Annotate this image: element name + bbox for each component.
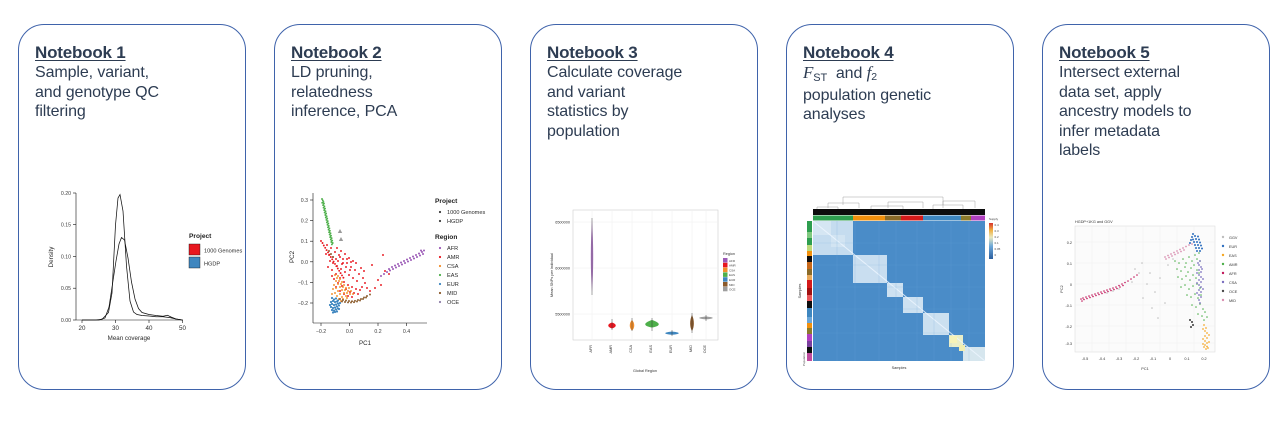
x-tick-csa: CSA: [629, 345, 633, 353]
pc2-tick-0.0: 0.0: [301, 260, 308, 266]
dendrogram: [817, 197, 975, 210]
column-annotation-bar: [813, 216, 985, 221]
x-tick-eas: EAS: [649, 345, 653, 353]
pc1-tick-0.2: 0.2: [374, 329, 381, 335]
legend-label-amr: AMR: [447, 255, 459, 261]
notebook-5-desc-line-4: infer metadata: [1059, 122, 1255, 142]
pca5-ytick-2: 0: [1070, 283, 1072, 287]
notebook-1-description: Sample, variant, and genotype QC filteri…: [35, 63, 231, 122]
legend-label-csa: CSA: [729, 268, 735, 272]
pca5-xtick-3: -0.2: [1133, 357, 1140, 361]
x-axis-label: Mean coverage: [108, 335, 151, 342]
column-dendrogram-dense: [813, 209, 985, 215]
legend-title-region: Region: [723, 252, 735, 256]
notebook-1-desc-line-1: Sample, variant,: [35, 63, 231, 83]
legend-label-afr: AFR: [447, 246, 458, 252]
svg-text:0: 0: [995, 253, 997, 257]
pca-y-axis-label: PC2: [289, 250, 296, 263]
x-tick-oce: OCE: [703, 345, 707, 354]
legend-label-hgdp: HGDP: [204, 262, 220, 268]
pca5-xtick-6: 0.1: [1184, 357, 1189, 361]
notebook-2-description: LD pruning, relatedness inference, PCA: [291, 63, 487, 122]
violin-x-axis-label: Global Region: [633, 369, 657, 373]
x-tick-mid: MID: [689, 345, 693, 352]
pca5-y-axis-label: PC2: [1060, 285, 1064, 292]
y-tick-4: 0.20: [61, 191, 71, 197]
notebook-card-5[interactable]: Notebook 5 Intersect external data set, …: [1042, 24, 1270, 390]
pca5-legend: GGV EUR EAS AMR AFR CSA OCE MID: [1222, 236, 1238, 303]
heatmap-colorbar-ticks: 0.40.3 0.20.1 0.050: [995, 223, 1001, 257]
pc2-tick-n0.2: −0.2: [298, 301, 308, 307]
notebook-1-desc-line-3: filtering: [35, 102, 231, 122]
pc2-tick-0.3: 0.3: [301, 198, 308, 204]
x-tick-40: 40: [146, 325, 153, 332]
notebook-5-desc-line-5: labels: [1059, 141, 1255, 161]
y-tick-0: 0.00: [61, 318, 71, 324]
x-tick-eur: EUR: [669, 345, 673, 353]
pc1-tick-0.4: 0.4: [403, 329, 410, 335]
legend-label-1000-genomes: 1000 Genomes: [204, 249, 242, 255]
y-tick-6000000: 6000000: [555, 267, 570, 271]
notebook-2-desc-line-3: inference, PCA: [291, 102, 487, 122]
legend-dot-mid: [439, 292, 441, 294]
legend-label-oce: OCE: [447, 300, 459, 306]
legend-title-region: Region: [435, 234, 457, 241]
legend-label-mid: MID: [1229, 299, 1236, 303]
pc2-tick-0.1: 0.1: [301, 239, 308, 245]
heatmap-colorbar: [989, 223, 993, 259]
notebook-5-desc-line-1: Intersect external: [1059, 63, 1255, 83]
notebook-5-title: Notebook 5: [1059, 43, 1255, 62]
pc1-tick-n0.2: −0.2: [316, 329, 326, 335]
notebook-workflow-board: Notebook 1 Sample, variant, and genotype…: [0, 0, 1280, 427]
notebook-4-desc-line-1: population genetic: [803, 86, 999, 106]
notebook-card-4[interactable]: Notebook 4 FST and f2 population genetic…: [786, 24, 1014, 390]
legend-label-ggv: GGV: [1229, 236, 1238, 240]
legend-label-csa: CSA: [1229, 281, 1237, 285]
notebook-4-fst-heatmap: 0.40.3 0.20.1 0.050 Supply Samples Sampl…: [793, 183, 1009, 383]
legend-label-afr: AFR: [729, 259, 736, 263]
y-tick-1: 0.05: [61, 286, 71, 292]
pc1-tick-0.0: 0.0: [346, 329, 353, 335]
pca5-xtick-1: -0.4: [1099, 357, 1106, 361]
pca5-ytick-4: -0.2: [1065, 325, 1072, 329]
legend-label-eas: EAS: [1229, 254, 1237, 258]
heatmap-colorbar-title: Supply: [989, 217, 999, 221]
legend-label-amr: AMR: [729, 264, 737, 268]
notebook-4-desc-line-2: analyses: [803, 105, 999, 125]
legend-label-mid: MID: [729, 283, 735, 287]
heatmap-hotspot-2: [959, 345, 965, 351]
svg-text:0.1: 0.1: [995, 241, 1000, 245]
heatmap-y-axis-label: Samples: [798, 284, 802, 299]
notebook-3-title: Notebook 3: [547, 43, 743, 62]
heatmap-x-axis-label: Samples: [892, 366, 907, 370]
pca-points: [320, 198, 425, 314]
y-tick-6500000: 6500000: [555, 221, 570, 225]
notebook-2-pca-chart: 0.3 0.2 0.1 0.0 −0.1 −0.2 −0.2 0.0 0.2 0…: [277, 175, 501, 370]
legend-label-eas: EAS: [447, 273, 458, 279]
legend-label-hgdp: HGDP: [447, 219, 463, 225]
pca5-xtick-4: -0.1: [1150, 357, 1157, 361]
legend-dot-csa: [439, 265, 441, 267]
heatmap-hotspot-1: [950, 336, 957, 343]
legend-label-eas: EAS: [729, 273, 735, 277]
legend-title-project: Project: [189, 233, 212, 240]
legend-dot-afr: [439, 247, 441, 249]
notebook-4-description: FST and f2 population genetic analyses: [803, 63, 999, 125]
legend-label-afr: AFR: [1229, 272, 1237, 276]
notebook-1-desc-line-2: and genotype QC: [35, 83, 231, 103]
pca5-ytick-0: 0.2: [1067, 241, 1072, 245]
notebook-card-2[interactable]: Notebook 2 LD pruning, relatedness infer…: [274, 24, 502, 390]
notebook-3-desc-line-2: and variant: [547, 83, 743, 103]
notebook-4-title: Notebook 4: [803, 43, 999, 62]
legend-dot-eur: [439, 283, 441, 285]
notebook-3-description: Calculate coverage and variant statistic…: [547, 63, 743, 141]
pc2-tick-0.2: 0.2: [301, 219, 308, 225]
legend-label-eur: EUR: [729, 278, 736, 282]
violin-y-axis-label: Mean SNPs per Individual: [550, 253, 554, 297]
pca5-xtick-5: 0: [1169, 357, 1171, 361]
y-tick-2: 0.10: [61, 255, 71, 261]
notebook-2-title: Notebook 2: [291, 43, 487, 62]
svg-text:0.3: 0.3: [995, 229, 1000, 233]
pca5-title: HGDP+1KG and GGV: [1075, 220, 1113, 224]
legend-dot-hgdp: [439, 220, 441, 222]
x-tick-afr: AFR: [589, 345, 593, 353]
svg-text:0.4: 0.4: [995, 223, 1000, 227]
notebook-5-desc-line-2: data set, apply: [1059, 83, 1255, 103]
heatmap-row-annotation-label: Population: [802, 352, 806, 367]
notebook-3-desc-line-3: statistics by: [547, 102, 743, 122]
pca5-xtick-2: -0.3: [1116, 357, 1123, 361]
pca5-ytick-1: 0.1: [1067, 262, 1072, 266]
x-tick-30: 30: [112, 325, 119, 332]
legend-label-mid: MID: [447, 291, 457, 297]
notebook-2-desc-line-2: relatedness: [291, 83, 487, 103]
legend-dot-1000-genomes: [439, 211, 441, 213]
y-axis-label: Density: [48, 246, 55, 268]
pca5-ytick-5: -0.3: [1065, 342, 1072, 346]
x-tick-20: 20: [79, 325, 86, 332]
notebook-3-desc-line-4: population: [547, 122, 743, 142]
pca-x-axis-label: PC1: [359, 340, 372, 347]
notebook-4-desc-formula: FST and f2: [803, 63, 999, 86]
notebook-card-1[interactable]: Notebook 1 Sample, variant, and genotype…: [18, 24, 246, 390]
notebook-1-density-chart: 0.00 0.05 0.10 0.15 0.20 20 30 40 50 Mea…: [23, 165, 245, 355]
legend-swatch-hgdp: [189, 257, 200, 268]
pca5-xtick-7: 0.2: [1201, 357, 1206, 361]
legend-label-eur: EUR: [447, 282, 459, 288]
legend-label-amr: AMR: [1229, 263, 1238, 267]
legend-dot-eas: [439, 274, 441, 276]
pca5-xtick-0: -0.5: [1082, 357, 1089, 361]
pca5-x-axis-label: PC1: [1141, 367, 1148, 371]
notebook-3-desc-line-1: Calculate coverage: [547, 63, 743, 83]
x-tick-50: 50: [179, 325, 186, 332]
notebook-3-violin-chart: 6500000 6000000 5500000 Mean SNPs per In…: [535, 200, 755, 385]
notebook-5-description: Intersect external data set, apply ances…: [1059, 63, 1255, 161]
legend-label-eur: EUR: [1229, 245, 1237, 249]
legend-dot-amr: [439, 256, 441, 258]
legend-label-oce: OCE: [1229, 290, 1238, 294]
notebook-5-pca-chart: HGDP+1KG and GGV 0.2 0.1 0 -0.1 -0.2 -0.…: [1047, 215, 1263, 385]
legend-dot-oce: [439, 301, 441, 303]
notebook-5-desc-line-3: ancestry models to: [1059, 102, 1255, 122]
svg-text:0.05: 0.05: [995, 247, 1001, 251]
row-annotation-bar: [807, 221, 812, 361]
legend-swatches-region: AFR AMR CSA EAS EUR MID OCE: [723, 258, 737, 292]
notebook-1-title: Notebook 1: [35, 43, 231, 62]
x-tick-amr: AMR: [609, 345, 613, 354]
notebook-2-desc-line-1: LD pruning,: [291, 63, 487, 83]
pc2-tick-n0.1: −0.1: [298, 280, 308, 286]
legend-label-csa: CSA: [447, 264, 459, 270]
legend-label-1000-genomes: 1000 Genomes: [447, 210, 485, 216]
legend-label-oce: OCE: [729, 288, 736, 292]
density-curve-1000-genomes: [82, 195, 183, 320]
svg-text:0.2: 0.2: [995, 235, 1000, 239]
y-tick-5500000: 5500000: [555, 313, 570, 317]
notebook-card-3[interactable]: Notebook 3 Calculate coverage and varian…: [530, 24, 758, 390]
legend-swatch-1000-genomes: [189, 244, 200, 255]
legend-title-project: Project: [435, 198, 458, 205]
pca5-ytick-3: -0.1: [1065, 304, 1072, 308]
violin-plot-panel: [573, 210, 718, 340]
y-tick-3: 0.15: [61, 223, 71, 229]
